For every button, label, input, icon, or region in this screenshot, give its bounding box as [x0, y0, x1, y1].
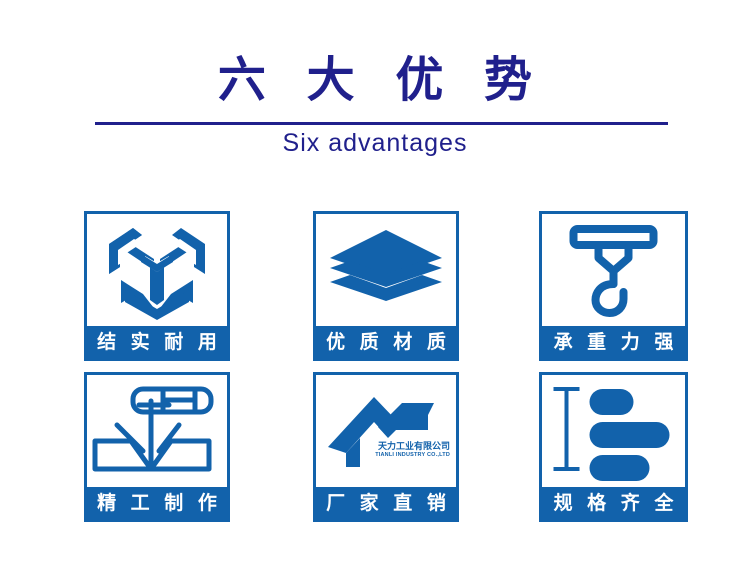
size-range-ruler-icon: [542, 375, 685, 487]
card-artwork: [542, 214, 685, 326]
advantage-card-full-specifications[interactable]: 规 格 齐 全: [539, 372, 688, 522]
advantage-card-precision-manufacturing[interactable]: 精 工 制 作: [84, 372, 230, 522]
factory-roof-logo-icon: [316, 375, 456, 487]
card-label: 结 实 耐 用: [87, 326, 227, 358]
card-artwork: 天力工业有限公司 TIANLI INDUSTRY CO.,LTD: [316, 375, 456, 487]
card-artwork: [542, 375, 685, 487]
card-artwork: [87, 375, 227, 487]
company-logo-text: 天力工业有限公司 TIANLI INDUSTRY CO.,LTD: [375, 443, 450, 459]
card-label: 厂 家 直 销: [316, 487, 456, 519]
press-brake-bending-icon: [87, 375, 227, 487]
crane-hook-icon: [542, 214, 685, 326]
card-artwork: [87, 214, 227, 326]
company-name-cn: 天力工业有限公司: [375, 443, 450, 452]
advantage-card-factory-direct[interactable]: 天力工业有限公司 TIANLI INDUSTRY CO.,LTD 厂 家 直 销: [313, 372, 459, 522]
three-fold-arrow-cube-icon: [87, 214, 227, 326]
page-title: 六 大 优 势: [0, 52, 750, 108]
advantage-card-grid: 结 实 耐 用 优 质 材 质: [84, 211, 688, 542]
card-label: 承 重 力 强: [542, 326, 685, 358]
advantage-card-sturdy-durable[interactable]: 结 实 耐 用: [84, 211, 230, 361]
company-name-en: TIANLI INDUSTRY CO.,LTD: [375, 453, 450, 459]
advantage-card-load-bearing[interactable]: 承 重 力 强: [539, 211, 688, 361]
card-label: 精 工 制 作: [87, 487, 227, 519]
stacked-layers-icon: [316, 214, 456, 326]
page-subtitle: Six advantages: [0, 128, 750, 158]
page-header: 六 大 优 势 Six advantages: [0, 0, 750, 175]
title-divider: [95, 122, 668, 125]
card-label: 规 格 齐 全: [542, 487, 685, 519]
card-label: 优 质 材 质: [316, 326, 456, 358]
card-artwork: [316, 214, 456, 326]
advantage-card-quality-material[interactable]: 优 质 材 质: [313, 211, 459, 361]
